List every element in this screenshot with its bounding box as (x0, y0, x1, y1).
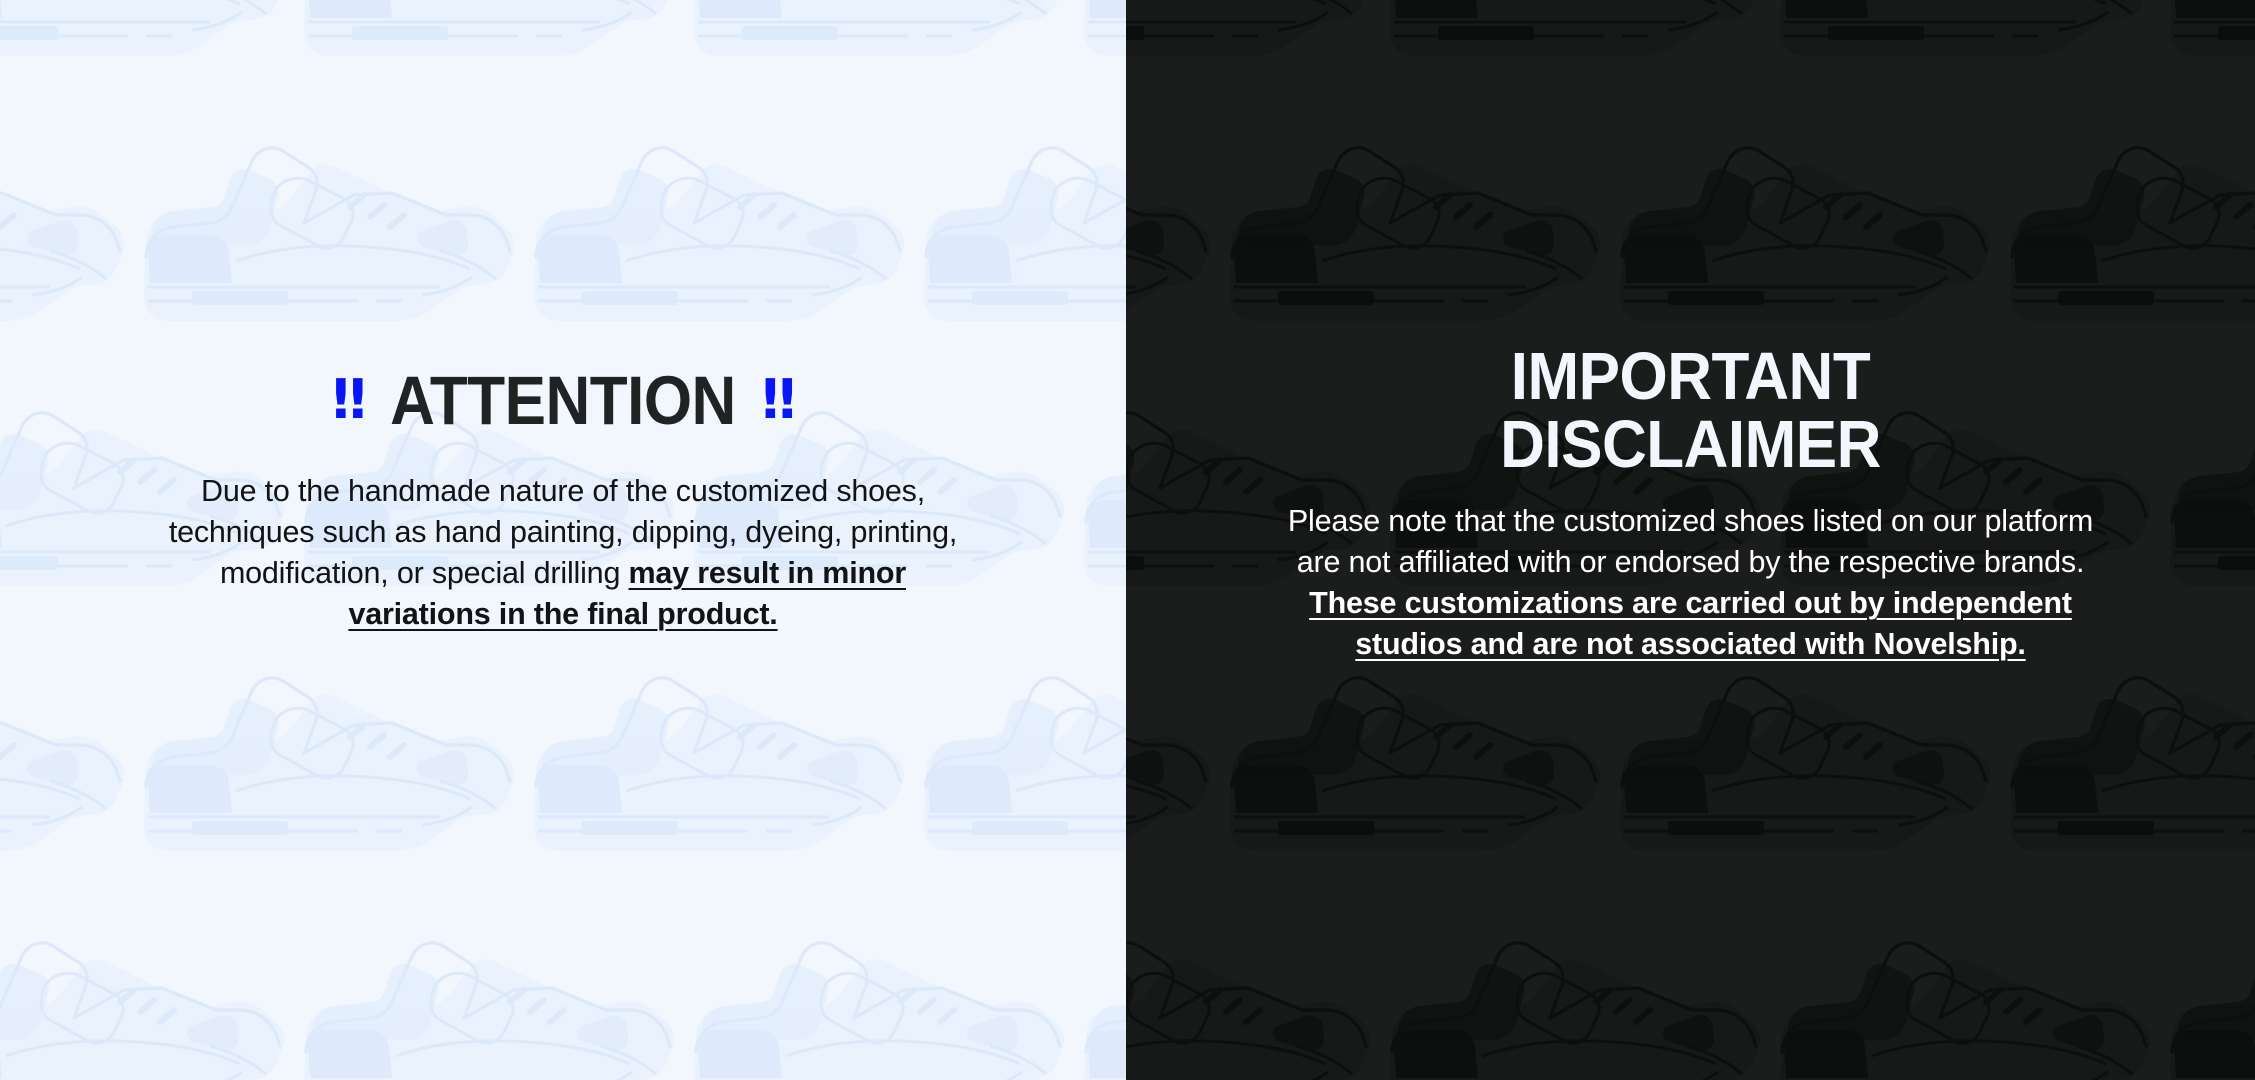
disclaimer-heading-line-1: IMPORTANT (1276, 343, 2106, 411)
disclaimer-heading-line-2: DISCLAIMER (1276, 411, 2106, 479)
disclaimer-body-text: Please note that the customized shoes li… (1276, 501, 2106, 665)
disclaimer-content: IMPORTANT DISCLAIMER Please note that th… (1126, 0, 2255, 1080)
attention-content: ‼ ATTENTION ‼ Due to the handmade nature… (0, 0, 1126, 1080)
double-exclamation-mark-icon-right: ‼ (762, 373, 794, 427)
split-notice-banner: ‼ ATTENTION ‼ Due to the handmade nature… (0, 0, 2255, 1080)
attention-heading: ‼ ATTENTION ‼ (168, 371, 958, 433)
disclaimer-body-emphasis: These customizations are carried out by … (1309, 586, 2072, 661)
disclaimer-body-normal: Please note that the customized shoes li… (1288, 504, 2093, 579)
attention-panel: ‼ ATTENTION ‼ Due to the handmade nature… (0, 0, 1126, 1080)
disclaimer-panel: IMPORTANT DISCLAIMER Please note that th… (1126, 0, 2255, 1080)
double-exclamation-mark-icon-left: ‼ (332, 373, 364, 427)
disclaimer-heading: IMPORTANT DISCLAIMER (1276, 343, 2106, 480)
attention-body-text: Due to the handmade nature of the custom… (168, 471, 958, 635)
attention-heading-text: ATTENTION (390, 368, 736, 436)
